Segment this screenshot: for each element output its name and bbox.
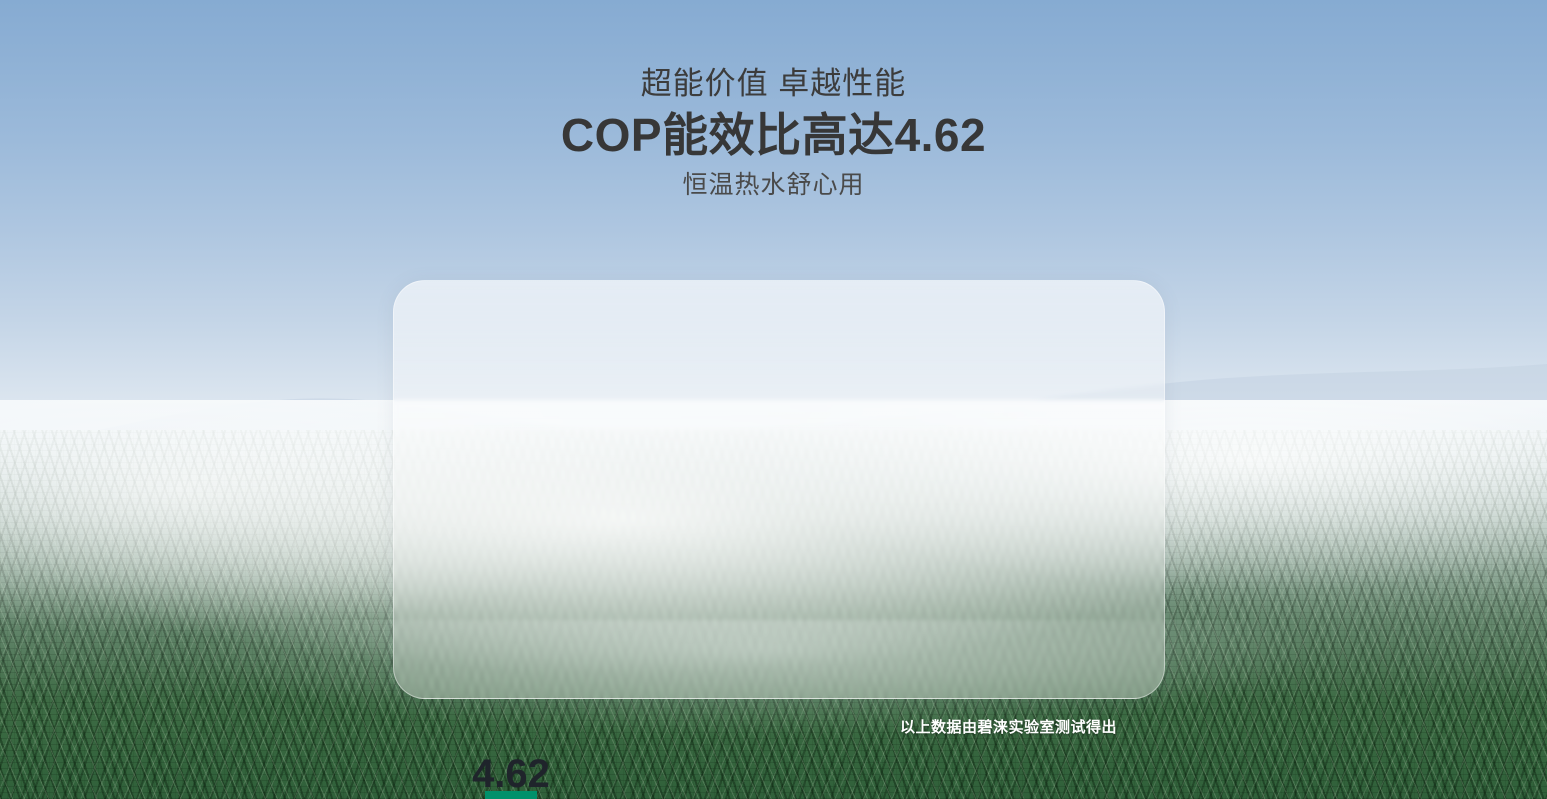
headline-kicker: 超能价值 卓越性能 — [0, 66, 1547, 102]
headline-block: 超能价值 卓越性能 COP能效比高达4.62 恒温热水舒心用 — [0, 0, 1547, 200]
page-title: COP能效比高达4.62 — [0, 108, 1547, 162]
bar-rect-1 — [485, 791, 537, 799]
headline-subtitle: 恒温热水舒心用 — [0, 170, 1547, 200]
infographic-stage: 超能价值 卓越性能 COP能效比高达4.62 恒温热水舒心用 4.62 热泵热水… — [0, 0, 1547, 799]
bar-chart: 4.62 热泵热水国标工况 能效比高达4.62 60% 比电锅炉COP 节约60… — [394, 281, 1164, 698]
chart-card: 4.62 热泵热水国标工况 能效比高达4.62 60% 比电锅炉COP 节约60… — [393, 280, 1165, 699]
data-source-footnote: 以上数据由碧涞实验室测试得出 — [900, 716, 1117, 737]
